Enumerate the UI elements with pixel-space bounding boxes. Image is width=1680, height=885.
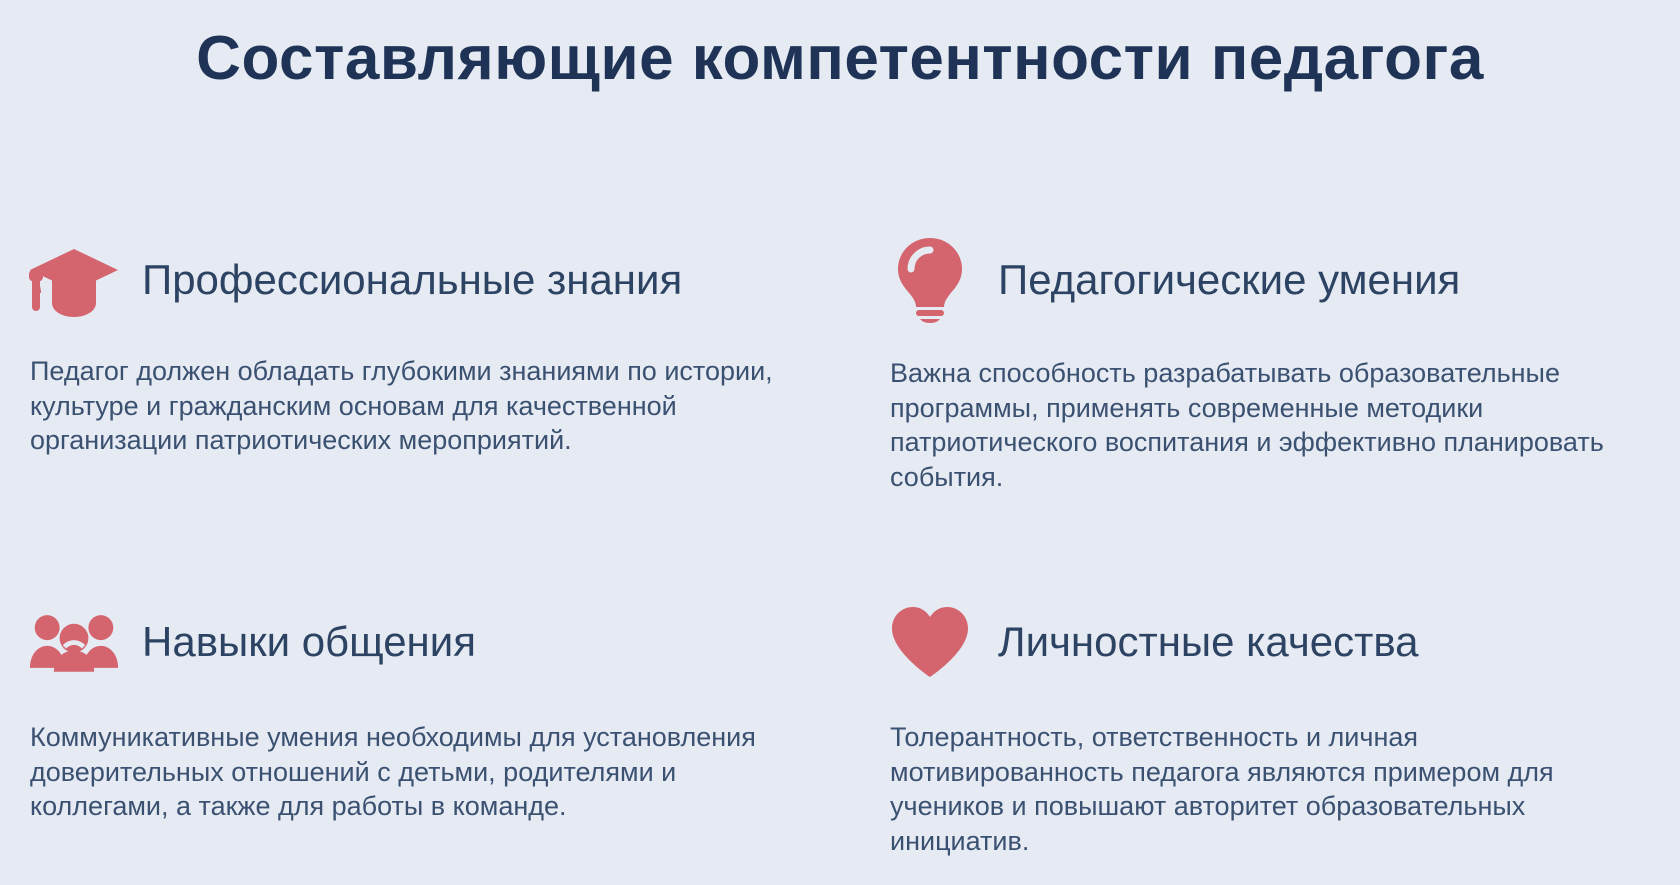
slide-root: Составляющие компетентности педагога <box>0 0 1680 885</box>
card-description: Педагог должен обладать глубокими знания… <box>30 354 810 458</box>
card-communication-skills: Навыки общения Коммуникативные умения не… <box>0 572 840 882</box>
card-personal-qualities: Личностные качества Толерантность, ответ… <box>840 572 1680 882</box>
heart-icon <box>884 598 976 686</box>
card-header: Педагогические умения <box>850 232 1650 328</box>
page-title: Составляющие компетентности педагога <box>0 26 1680 91</box>
card-header: Профессиональные знания <box>24 232 810 328</box>
card-title: Навыки общения <box>142 619 476 665</box>
card-header: Навыки общения <box>24 594 810 690</box>
card-description: Толерантность, ответственность и личная … <box>890 720 1620 858</box>
card-professional-knowledge: Профессиональные знания Педагог должен о… <box>0 232 840 572</box>
graduation-cap-icon <box>28 236 120 324</box>
lightbulb-icon <box>884 236 976 324</box>
people-group-icon <box>28 598 120 686</box>
competency-card-grid: Профессиональные знания Педагог должен о… <box>0 232 1680 882</box>
card-description: Коммуникативные умения необходимы для ус… <box>30 720 810 824</box>
card-title: Педагогические умения <box>998 257 1460 303</box>
card-description: Важна способность разрабатывать образова… <box>890 356 1610 494</box>
card-header: Личностные качества <box>850 594 1650 690</box>
card-pedagogical-skills: Педагогические умения Важна способность … <box>840 232 1680 572</box>
card-title: Профессиональные знания <box>142 257 682 303</box>
card-title: Личностные качества <box>998 619 1419 665</box>
